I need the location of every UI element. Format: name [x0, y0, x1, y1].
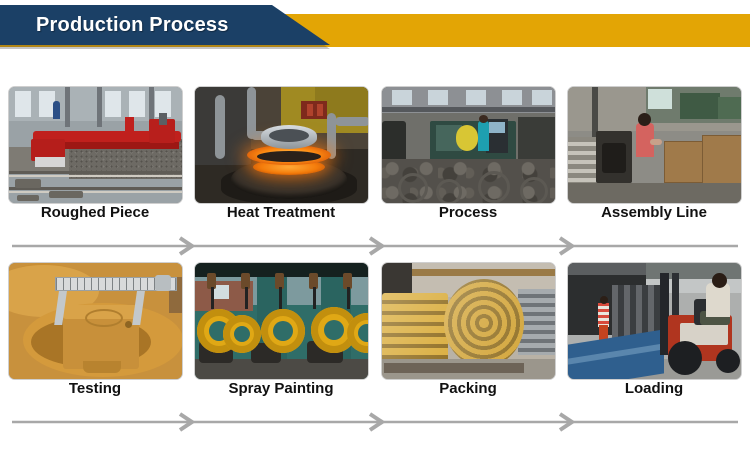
- step-label-process: Process: [375, 204, 561, 221]
- process-row-2-images: [0, 256, 750, 380]
- process-image-packing[interactable]: [381, 262, 556, 380]
- process-row-1-labels: Roughed Piece Heat Treatment Process Ass…: [0, 204, 750, 234]
- step-label-testing: Testing: [2, 380, 188, 397]
- process-row-2: Testing Spray Painting Packing Loading: [0, 256, 750, 434]
- process-image-roughed-piece[interactable]: [8, 86, 183, 204]
- step-label-heat-treatment: Heat Treatment: [188, 204, 374, 221]
- step-label-assembly-line: Assembly Line: [561, 204, 747, 221]
- process-image-assembly-line[interactable]: [567, 86, 742, 204]
- step-label-roughed-piece: Roughed Piece: [2, 204, 188, 221]
- process-image-heat-treatment[interactable]: [194, 86, 369, 204]
- process-image-testing[interactable]: [8, 262, 183, 380]
- process-row-1-images: [0, 80, 750, 204]
- process-image-spray-painting[interactable]: [194, 262, 369, 380]
- process-row-2-labels: Testing Spray Painting Packing Loading: [0, 380, 750, 410]
- step-label-spray-painting: Spray Painting: [188, 380, 374, 397]
- process-row-2-arrow: [0, 410, 750, 434]
- production-process-infographic: Production Process: [0, 0, 750, 476]
- step-label-loading: Loading: [561, 380, 747, 397]
- process-image-loading[interactable]: [567, 262, 742, 380]
- process-image-process[interactable]: [381, 86, 556, 204]
- process-row-1: Roughed Piece Heat Treatment Process Ass…: [0, 80, 750, 258]
- step-label-packing: Packing: [375, 380, 561, 397]
- process-row-1-arrow: [0, 234, 750, 258]
- page-title: Production Process: [36, 5, 229, 45]
- header-banner: Production Process: [0, 0, 750, 62]
